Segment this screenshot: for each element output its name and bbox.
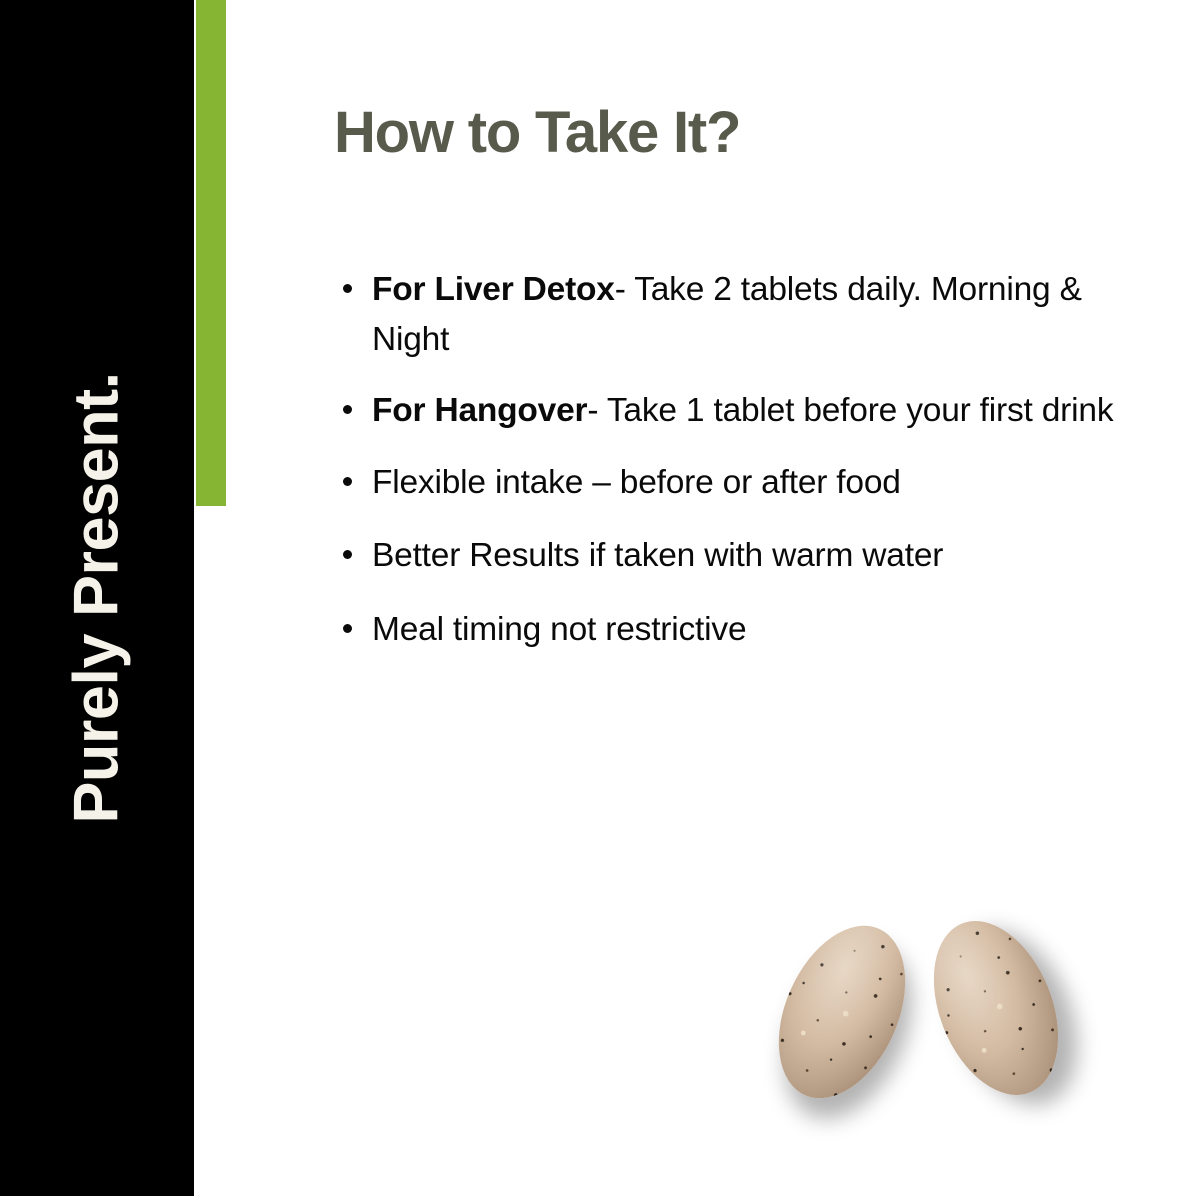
- list-item-text: Meal timing not restrictive: [372, 611, 746, 648]
- list-item: Flexible intake – before or after food: [334, 458, 1149, 508]
- list-item: Better Results if taken with warm water: [334, 531, 1149, 581]
- bullet-dot-icon: [343, 550, 352, 559]
- bullet-dot-icon: [343, 477, 352, 486]
- brand-name-vertical: Purely Present.: [66, 372, 129, 823]
- list-item-text: - Take 1 tablet before your first drink: [587, 392, 1113, 429]
- list-item: For Hangover- Take 1 tablet before your …: [334, 386, 1149, 436]
- brand-strip: Purely Present.: [0, 0, 194, 1196]
- list-item-lead: For Hangover: [372, 392, 587, 429]
- green-accent-bar: [196, 0, 226, 506]
- list-item-text: Better Results if taken with warm water: [372, 537, 943, 574]
- list-item: Meal timing not restrictive: [334, 605, 1149, 655]
- bullet-dot-icon: [343, 624, 352, 633]
- tablet-right: [910, 903, 1082, 1114]
- list-item: For Liver Detox- Take 2 tablets daily. M…: [334, 265, 1149, 364]
- list-item-text: Flexible intake – before or after food: [372, 464, 901, 501]
- left-sidebar: Purely Present.: [0, 0, 194, 1196]
- product-tablets-image: [770, 905, 1100, 1130]
- page-title: How to Take It?: [334, 100, 740, 167]
- bullet-dot-icon: [343, 405, 352, 414]
- tablet-left: [754, 906, 930, 1118]
- bullet-dot-icon: [343, 284, 352, 293]
- list-item-lead: For Liver Detox: [372, 271, 615, 308]
- slide-canvas: Purely Present. How to Take It? For Live…: [0, 0, 1200, 1200]
- instructions-list: For Liver Detox- Take 2 tablets daily. M…: [334, 265, 1149, 678]
